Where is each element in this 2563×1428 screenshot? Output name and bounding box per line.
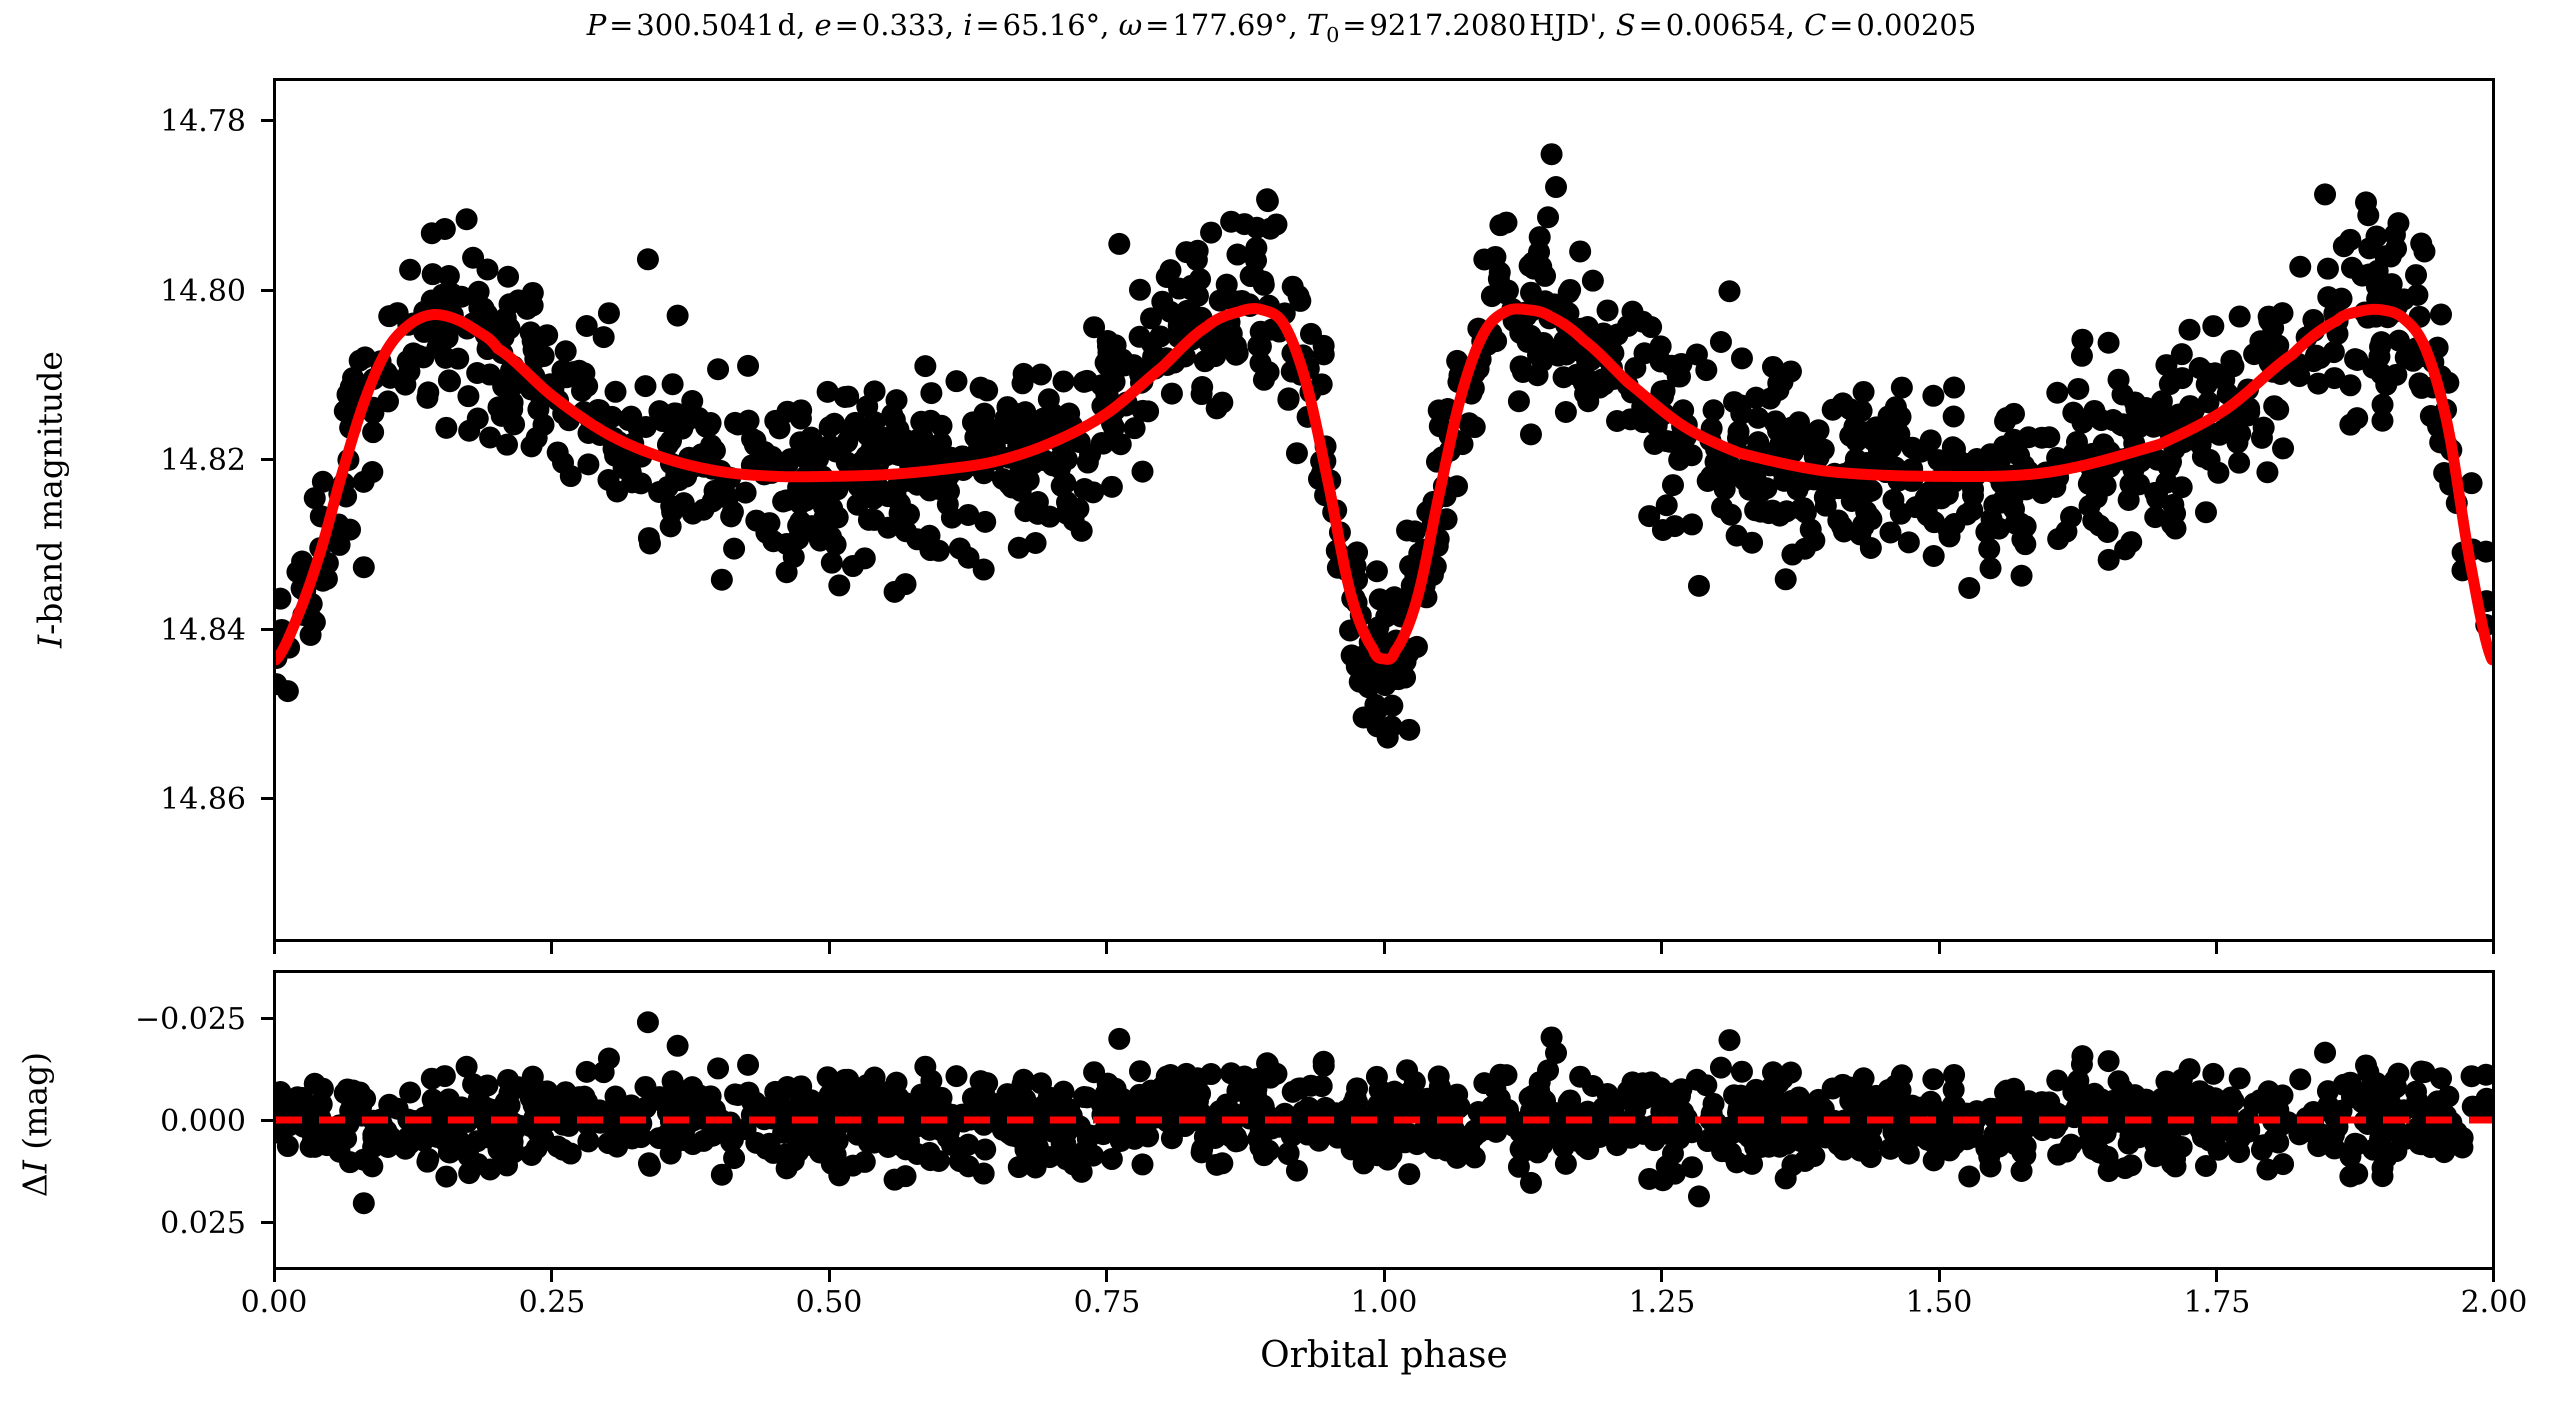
title-eq-7: =	[1826, 8, 1856, 42]
ytick-label-main-1: 14.80	[71, 274, 246, 309]
ytick-label-main-4: 14.86	[71, 782, 246, 817]
data-point	[637, 248, 659, 270]
data-point	[1025, 532, 1047, 554]
residual-data-point	[737, 1054, 759, 1076]
xtick-label-2: 0.50	[729, 1285, 929, 1320]
residual-data-point	[1200, 1063, 1222, 1085]
data-point	[2098, 332, 2120, 354]
title-param-T0-subscript: 0	[1326, 23, 1339, 47]
data-point	[2411, 377, 2433, 399]
residual-data-point	[2098, 1050, 2120, 1072]
residual-data-point	[416, 1151, 438, 1173]
data-point	[1923, 545, 1945, 567]
data-point	[1860, 537, 1882, 559]
residual-data-point	[648, 1127, 670, 1149]
xtick-main-7	[2215, 942, 2218, 954]
data-point	[1795, 502, 1817, 524]
data-point	[1253, 274, 1275, 296]
title-param-e-symbol: e	[815, 8, 832, 42]
residual-data-point	[2339, 1072, 2361, 1094]
data-point	[1573, 371, 1595, 393]
residual-data-point	[2289, 1068, 2311, 1090]
residual-data-point	[2368, 1133, 2390, 1155]
residual-data-point	[1132, 1153, 1154, 1175]
residual-data-point	[1731, 1061, 1753, 1083]
residual-data-point	[421, 1068, 443, 1090]
data-point	[1512, 361, 1534, 383]
data-point	[837, 386, 859, 408]
data-point	[498, 397, 520, 419]
data-point	[1815, 495, 1837, 517]
data-point	[1132, 461, 1154, 483]
data-point	[2339, 229, 2361, 251]
ytick-label-resid-0: −0.025	[41, 1002, 246, 1037]
residual-data-point	[638, 1152, 660, 1174]
residual-data-point	[692, 1130, 714, 1152]
data-point	[1058, 403, 1080, 425]
residual-data-point	[758, 1133, 780, 1155]
data-point	[889, 439, 911, 461]
data-point	[1010, 417, 1032, 439]
xtick-resid-2	[828, 1270, 831, 1282]
xtick-main-6	[1938, 942, 1941, 954]
data-point	[724, 412, 746, 434]
residual-data-point	[1038, 1086, 1060, 1108]
residual-data-point	[1675, 1108, 1697, 1130]
data-point	[692, 499, 714, 521]
residual-data-point	[1346, 1077, 1368, 1099]
ytick-label-main-3: 14.84	[71, 613, 246, 648]
data-point	[1633, 342, 1655, 364]
title-param-i-value: 65.16	[1003, 8, 1086, 42]
data-point	[1731, 347, 1753, 369]
data-point	[1558, 281, 1580, 303]
residual-points	[276, 1011, 2492, 1214]
residual-data-point	[1101, 1148, 1123, 1170]
data-point	[1520, 423, 1542, 445]
data-point	[668, 415, 690, 437]
residual-data-point	[2251, 1139, 2273, 1161]
residual-plot-area	[276, 973, 2492, 1267]
data-point	[1923, 511, 1945, 533]
data-point	[1667, 365, 1689, 387]
data-point	[502, 374, 524, 396]
residual-data-point	[711, 1164, 733, 1186]
data-point	[638, 527, 660, 549]
data-point	[1891, 377, 1913, 399]
data-point	[667, 305, 689, 327]
light-curve-panel	[273, 78, 2495, 942]
data-point	[361, 461, 383, 483]
data-point	[884, 581, 906, 603]
data-point	[1922, 489, 1944, 511]
data-point	[1848, 477, 1870, 499]
residual-data-point	[304, 1073, 326, 1095]
residual-data-point	[783, 1150, 805, 1172]
residual-data-point	[2317, 1080, 2339, 1102]
data-point	[1189, 268, 1211, 290]
data-point	[1250, 335, 1272, 357]
data-point	[398, 360, 420, 382]
residual-data-point	[576, 1061, 598, 1083]
residual-data-point	[2160, 1121, 2182, 1143]
residual-data-point	[695, 1088, 717, 1110]
data-point	[886, 389, 908, 411]
data-point	[598, 302, 620, 324]
data-point	[1555, 401, 1577, 423]
residual-data-point	[1718, 1029, 1740, 1051]
plot-title: P = 300.5041 d, e = 0.333, i = 65.16°, ω…	[0, 8, 2563, 47]
data-point	[1711, 496, 1733, 518]
xtick-label-6: 1.50	[1839, 1285, 2039, 1320]
residual-data-point	[2097, 1146, 2119, 1168]
data-point	[466, 362, 488, 384]
data-point	[562, 361, 584, 383]
data-point	[889, 493, 911, 515]
data-point	[758, 512, 780, 534]
xtick-label-7: 1.75	[2117, 1285, 2317, 1320]
residual-data-point	[1853, 1067, 1875, 1089]
residual-data-point	[301, 1122, 323, 1144]
data-point	[1053, 370, 1075, 392]
data-point	[2079, 495, 2101, 517]
residual-data-point	[1845, 1092, 1867, 1114]
data-point	[1865, 416, 1887, 438]
residual-data-point	[2144, 1145, 2166, 1167]
title-param-C-value: 0.00205	[1856, 8, 1976, 42]
data-point	[1258, 361, 1280, 383]
data-point	[1529, 226, 1551, 248]
residual-data-point	[1726, 1151, 1748, 1173]
residual-data-point	[637, 1011, 659, 1033]
data-point	[1129, 279, 1151, 301]
xtick-main-4	[1383, 942, 1386, 954]
residual-data-point	[1289, 1077, 1311, 1099]
residual-data-point	[1980, 1156, 2002, 1178]
data-point	[349, 350, 371, 372]
data-point	[1107, 357, 1129, 379]
data-point	[2323, 367, 2345, 389]
title-param-S-symbol: S	[1616, 8, 1636, 42]
residual-data-point	[1522, 1085, 1544, 1107]
data-point	[910, 446, 932, 468]
data-point	[1569, 240, 1591, 262]
residual-data-point	[2272, 1153, 2294, 1175]
residual-data-point	[1898, 1143, 1920, 1165]
data-point	[2323, 341, 2345, 363]
residual-data-point	[2371, 1165, 2393, 1187]
residual-data-point	[1688, 1185, 1710, 1207]
data-point	[2314, 183, 2336, 205]
data-point	[1695, 359, 1717, 381]
residual-data-point	[2195, 1155, 2217, 1177]
residual-data-point	[362, 1136, 384, 1158]
residual-data-point	[2153, 1097, 2175, 1119]
data-point	[1206, 397, 1228, 419]
data-point	[416, 387, 438, 409]
data-point	[1001, 476, 1023, 498]
residual-data-point	[941, 1134, 963, 1156]
data-point	[828, 574, 850, 596]
residual-data-point	[340, 1080, 362, 1102]
residual-data-point	[2199, 1130, 2221, 1152]
residual-data-point	[2452, 1127, 2474, 1149]
data-point	[2015, 478, 2037, 500]
data-point	[1200, 222, 1222, 244]
data-point	[920, 382, 942, 404]
data-point	[789, 493, 811, 515]
data-point	[1545, 176, 1567, 198]
data-point	[438, 369, 460, 391]
residual-data-point	[2063, 1102, 2085, 1124]
data-point	[1508, 390, 1530, 412]
data-point	[1289, 290, 1311, 312]
data-point	[2357, 204, 2379, 226]
data-point	[1975, 521, 1997, 543]
data-point	[447, 348, 469, 370]
data-point	[467, 408, 489, 430]
data-point	[1286, 442, 1308, 464]
data-point	[300, 624, 322, 646]
data-point	[817, 381, 839, 403]
data-point	[2055, 521, 2077, 543]
residual-data-point	[1408, 1090, 1430, 1112]
residual-data-point	[1541, 1026, 1563, 1048]
residual-data-point	[2344, 1133, 2366, 1155]
data-point	[2155, 354, 2177, 376]
residual-data-point	[2410, 1060, 2432, 1082]
data-point	[1868, 440, 1890, 462]
title-unit-hjd: HJD',	[1526, 8, 1615, 42]
data-point	[863, 509, 885, 531]
residual-data-point	[1597, 1083, 1619, 1105]
data-point	[620, 406, 642, 428]
x-axis-label: Orbital phase	[273, 1335, 2495, 1376]
data-point	[480, 309, 502, 331]
data-point	[2121, 422, 2143, 444]
data-point	[1257, 190, 1279, 212]
data-point	[576, 315, 598, 337]
residual-data-point	[1767, 1093, 1789, 1115]
xtick-main-3	[1105, 942, 1108, 954]
data-point	[377, 390, 399, 412]
data-point	[2114, 538, 2136, 560]
data-point	[2229, 306, 2251, 328]
data-point	[842, 555, 864, 577]
data-point	[1071, 520, 1093, 542]
residual-data-point	[1822, 1078, 1844, 1100]
title-param-omega-symbol: ω	[1119, 8, 1143, 42]
residual-data-point	[1958, 1165, 1980, 1187]
data-point	[421, 222, 443, 244]
title-eq-1: =	[606, 8, 636, 42]
xtick-resid-0	[273, 1270, 276, 1282]
data-point	[660, 515, 682, 537]
residual-data-point	[2118, 1133, 2140, 1155]
residual-data-point	[1868, 1097, 1890, 1119]
residual-data-point	[1374, 1122, 1396, 1144]
data-point	[1039, 506, 1061, 528]
data-point	[695, 416, 717, 438]
data-point	[2258, 310, 2280, 332]
data-point	[353, 556, 375, 578]
residual-data-point	[1795, 1132, 1817, 1154]
y-axis-label-main-italic: I	[31, 635, 70, 648]
data-point	[1776, 500, 1798, 522]
data-point	[819, 416, 841, 438]
data-point	[1991, 491, 2013, 513]
data-point	[1767, 379, 1789, 401]
residual-data-point	[387, 1098, 409, 1120]
data-point	[1662, 474, 1684, 496]
residual-data-point	[958, 1155, 980, 1177]
title-param-omega-value: 177.69	[1172, 8, 1273, 42]
ytick-label-main-2: 14.82	[71, 443, 246, 478]
residual-data-point	[1077, 1128, 1099, 1150]
xtick-label-1: 0.25	[452, 1285, 652, 1320]
light-curve-plot-area	[276, 81, 2492, 939]
residual-data-point	[1253, 1096, 1275, 1118]
data-point	[1577, 390, 1599, 412]
residual-data-point	[2429, 1134, 2451, 1156]
residual-data-point	[1508, 1156, 1530, 1178]
data-point	[1762, 356, 1784, 378]
xtick-resid-1	[550, 1270, 553, 1282]
data-point	[1083, 316, 1105, 338]
residual-data-point	[1667, 1086, 1689, 1108]
residual-data-point	[311, 1093, 333, 1115]
data-point	[387, 302, 409, 324]
data-point	[2011, 565, 2033, 587]
data-point	[1141, 333, 1163, 355]
data-point	[1996, 407, 2018, 429]
data-point	[1681, 513, 1703, 535]
data-point	[1726, 525, 1748, 547]
residual-data-point	[521, 1144, 543, 1166]
data-point	[1722, 465, 1744, 487]
data-point	[2071, 329, 2093, 351]
ytick-main-3	[261, 628, 273, 631]
data-point	[1377, 727, 1399, 749]
xtick-main-2	[828, 942, 831, 954]
data-point	[2160, 451, 2182, 473]
data-point	[476, 258, 498, 280]
residual-data-point	[1377, 1149, 1399, 1171]
xtick-resid-7	[2215, 1270, 2218, 1282]
data-point	[648, 481, 670, 503]
data-point	[2199, 449, 2221, 471]
data-point	[2153, 407, 2175, 429]
data-point	[1082, 481, 1104, 503]
data-point	[555, 340, 577, 362]
data-point	[869, 434, 891, 456]
data-point	[435, 417, 457, 439]
data-point	[496, 434, 518, 456]
ytick-main-4	[261, 797, 273, 800]
residual-data-point	[889, 1124, 911, 1146]
residual-data-point	[1802, 1093, 1824, 1115]
data-point	[1108, 233, 1130, 255]
residual-data-point	[1943, 1079, 1965, 1101]
data-point	[1175, 241, 1197, 263]
residual-data-point	[889, 1097, 911, 1119]
data-point	[1541, 143, 1563, 165]
data-point	[783, 546, 805, 568]
residual-data-point	[764, 1081, 786, 1103]
data-point	[2385, 364, 2407, 386]
residual-data-point	[1083, 1061, 1105, 1083]
title-param-T0-value: 9217.2080	[1369, 8, 1526, 42]
residual-data-point	[1233, 1065, 1255, 1087]
data-point	[1389, 590, 1411, 612]
data-point	[520, 321, 542, 343]
data-point	[634, 375, 656, 397]
residual-data-point	[1722, 1122, 1744, 1144]
residual-data-point	[1558, 1091, 1580, 1113]
title-eq-2: =	[832, 8, 862, 42]
data-point	[547, 441, 569, 463]
data-point	[2164, 502, 2186, 524]
residual-data-point	[335, 1128, 357, 1150]
residual-data-point	[1206, 1154, 1228, 1176]
data-point	[1882, 489, 1904, 511]
residual-data-point	[361, 1155, 383, 1177]
data-point	[1051, 475, 1073, 497]
data-point	[2118, 489, 2140, 511]
data-point	[2381, 273, 2403, 295]
data-point	[1767, 420, 1789, 442]
y-axis-label-main: I-band magnitude	[31, 240, 70, 760]
data-point	[340, 376, 362, 398]
residual-data-point	[2112, 1078, 2134, 1100]
ytick-main-2	[261, 458, 273, 461]
data-point	[711, 569, 733, 591]
title-sep-6: ,	[1786, 8, 1804, 42]
residual-data-point	[398, 1133, 420, 1155]
data-point	[1943, 406, 1965, 428]
data-point	[1374, 674, 1396, 696]
title-unit-days: d,	[775, 8, 815, 42]
data-point	[1958, 577, 1980, 599]
residual-data-point	[1129, 1060, 1151, 1082]
residual-data-point	[819, 1084, 841, 1106]
residual-data-point	[1396, 1059, 1418, 1081]
residual-data-point	[2339, 1165, 2361, 1187]
ytick-label-main-0: 14.78	[71, 104, 246, 139]
ytick-label-resid-2: 0.025	[41, 1206, 246, 1241]
data-point	[2368, 346, 2390, 368]
data-point	[1159, 259, 1181, 281]
data-point	[1520, 325, 1542, 347]
data-point	[438, 265, 460, 287]
data-point	[1822, 399, 1844, 421]
residual-data-point	[720, 1131, 742, 1153]
data-point	[1845, 430, 1867, 452]
title-param-P-symbol: P	[587, 8, 607, 42]
xtick-label-5: 1.25	[1562, 1285, 1762, 1320]
data-point	[1233, 213, 1255, 235]
data-point	[426, 337, 448, 359]
data-point	[1101, 476, 1123, 498]
residual-data-point	[435, 1166, 457, 1188]
data-point	[720, 505, 742, 527]
residual-data-point	[724, 1083, 746, 1105]
residual-data-point	[562, 1089, 584, 1111]
residual-data-point	[1767, 1072, 1789, 1094]
data-point	[1831, 515, 1853, 537]
data-point	[456, 208, 478, 230]
data-point	[764, 410, 786, 432]
